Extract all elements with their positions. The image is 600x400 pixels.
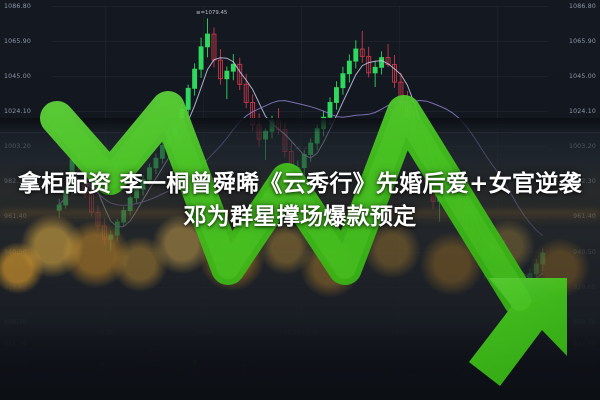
- page-title: 拿柜配资 李一桐曾舜晞《云秀行》先婚后爱+女官逆袭邓为群星撑场爆款预定: [14, 168, 586, 233]
- screenshot-root: 1086.801086.801065.901065.901045.001045.…: [0, 0, 600, 400]
